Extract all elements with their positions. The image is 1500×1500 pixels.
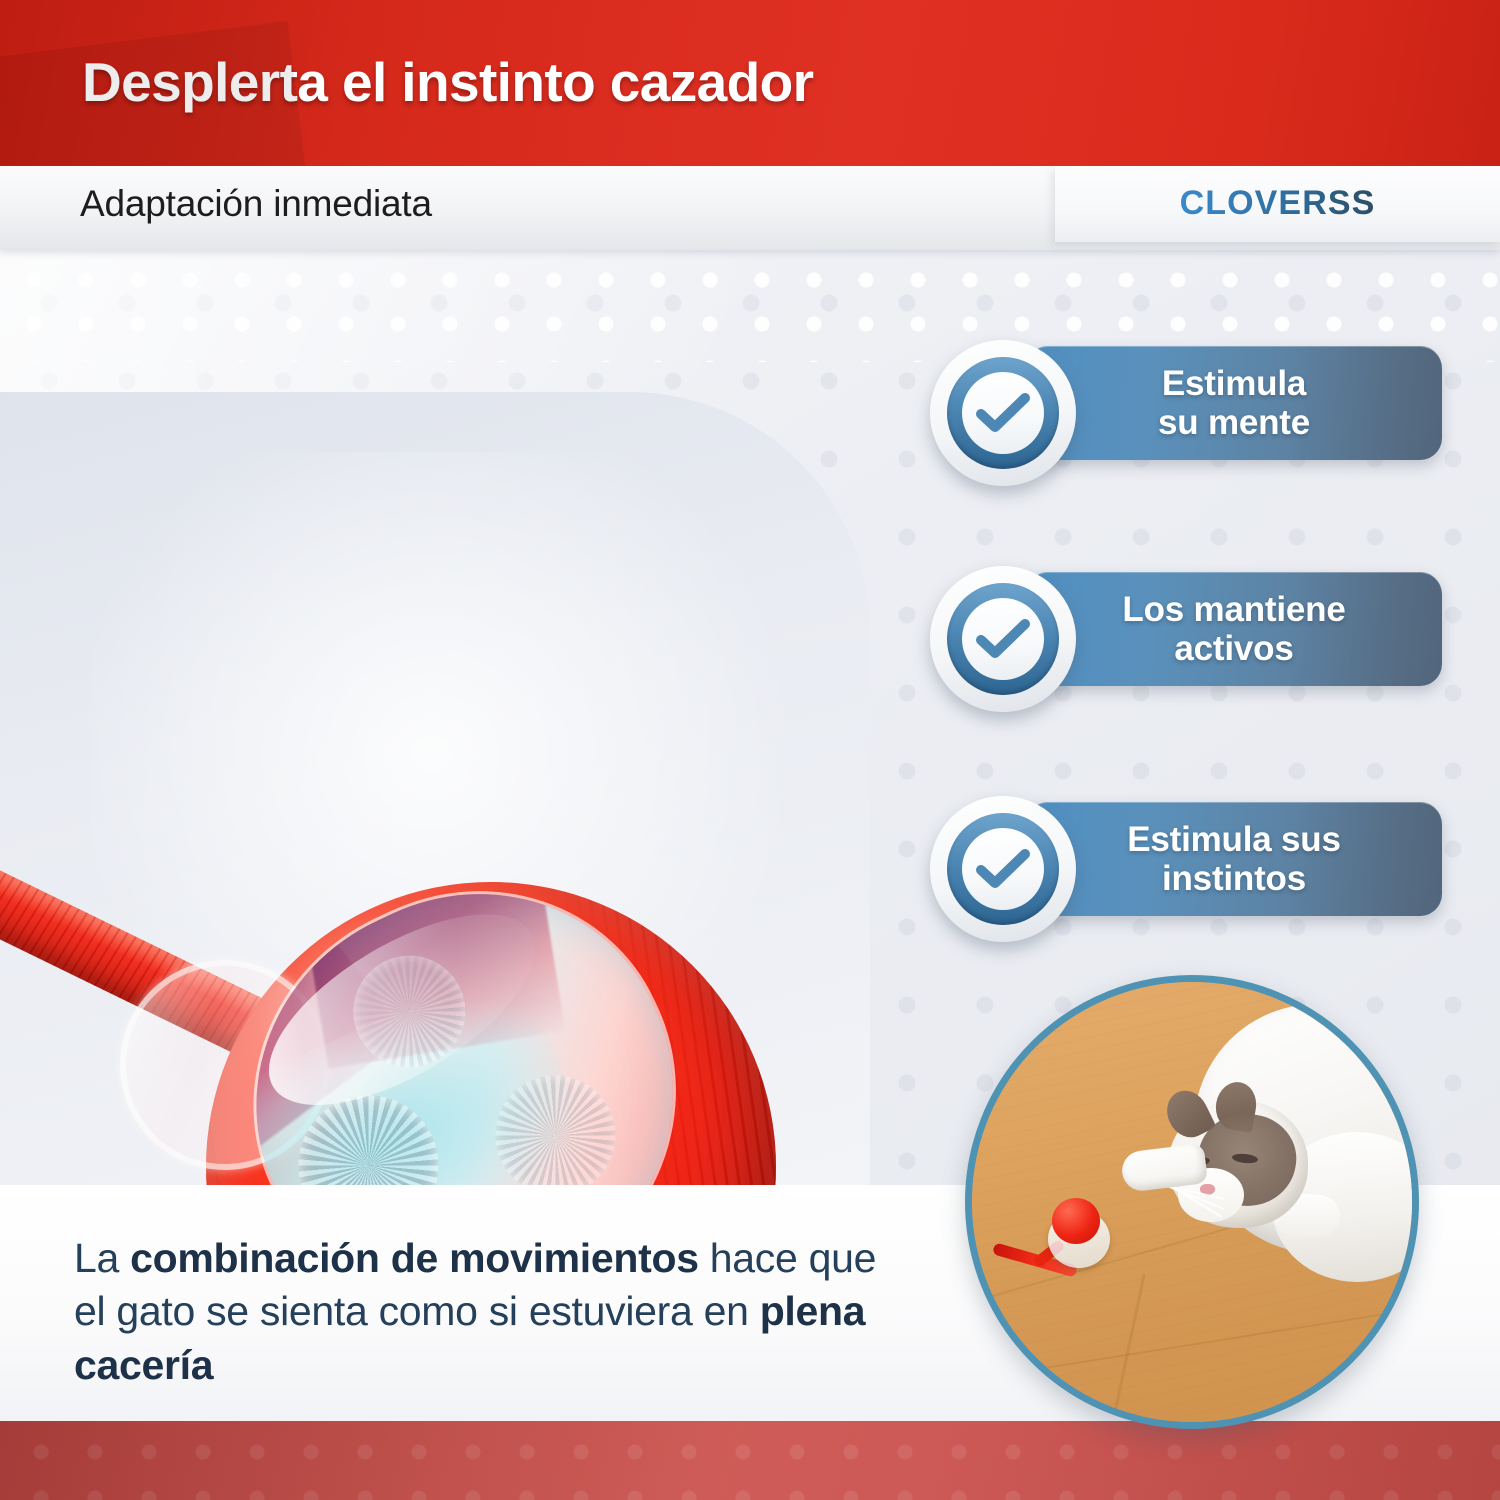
check-circle-icon: [930, 796, 1076, 942]
check-circle-icon: [930, 566, 1076, 712]
feature-badge-label: Estimula su mente: [1140, 364, 1328, 442]
check-ring: [947, 813, 1059, 925]
infographic-stage: Desplerta el instinto cazador Adaptación…: [0, 0, 1500, 1500]
feature-badge-label: Estimula sus instintos: [1109, 820, 1359, 898]
feature-badge-line1: Estimula sus: [1127, 820, 1341, 859]
bottom-caption-part1: La: [74, 1235, 130, 1281]
check-ring: [947, 583, 1059, 695]
check-inner: [962, 828, 1044, 910]
feature-badge-pill: Estimula su mente: [1026, 346, 1442, 460]
toy-red-ball: [1052, 1198, 1100, 1244]
feature-badge-label: Los mantiene activos: [1104, 590, 1363, 668]
check-inner: [962, 372, 1044, 454]
check-ring: [947, 357, 1059, 469]
subtitle-text: Adaptación inmediata: [80, 183, 432, 225]
footer-bar: [0, 1421, 1500, 1500]
feature-badge-line2: su mente: [1158, 403, 1310, 442]
feature-badge-pill: Los mantiene activos: [1026, 572, 1442, 686]
brand-plate: CLOVERSS: [1055, 166, 1500, 242]
bottom-caption: La combinación de movimientos hace que e…: [74, 1232, 894, 1392]
feature-badge-pill: Estimula sus instintos: [1026, 802, 1442, 916]
check-circle-icon: [930, 340, 1076, 486]
product-image-panel: [0, 392, 870, 1192]
subtitle-bar: Adaptación inmediata CLOVERSS: [0, 166, 1500, 250]
cat-playing-with-ball-photo: [965, 975, 1419, 1429]
feature-badge-line2: instintos: [1162, 859, 1306, 898]
feature-badge-line2: activos: [1174, 629, 1293, 668]
check-inner: [962, 598, 1044, 680]
feature-badge-line1: Los mantiene: [1122, 590, 1345, 629]
feature-badge-line1: Estimula: [1162, 364, 1306, 403]
bottom-caption-bold1: combinación de movimientos: [130, 1235, 699, 1281]
page-title: Desplerta el instinto cazador: [82, 50, 813, 114]
header-banner: Desplerta el instinto cazador: [0, 0, 1500, 166]
brand-logo: CLOVERSS: [1055, 184, 1500, 223]
footer-sheen: [0, 1421, 1500, 1500]
